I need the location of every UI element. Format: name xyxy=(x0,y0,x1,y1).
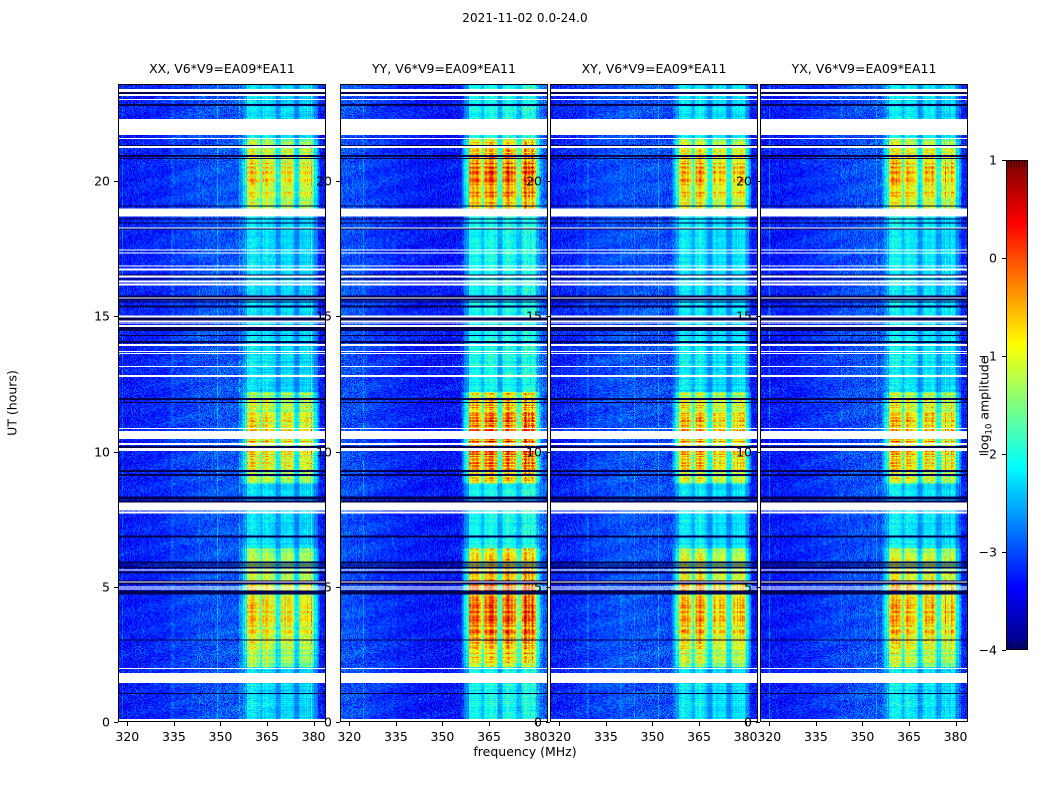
y-tick-label: 20 xyxy=(526,174,542,189)
y-tick-label: 0 xyxy=(102,715,110,730)
spectrogram-figure: 2021-11-02 0.0-24.0 UT (hours) frequency… xyxy=(0,0,1050,800)
x-tick-mark xyxy=(769,722,770,726)
colorbar-tick-mark xyxy=(1002,454,1006,455)
panel-title-yy: YY, V6*V9=EA09*EA11 xyxy=(372,61,516,76)
x-tick-mark xyxy=(220,722,221,726)
x-tick-label: 320 xyxy=(115,729,139,744)
y-tick-label: 0 xyxy=(534,715,542,730)
x-tick-label: 350 xyxy=(431,729,455,744)
panel-xx: XX, V6*V9=EA09*EA11320335350365380051015… xyxy=(118,84,326,722)
x-tick-label: 350 xyxy=(851,729,875,744)
colorbar-label-suffix: amplitude xyxy=(977,356,992,423)
colorbar-tick-label: 1 xyxy=(989,153,997,168)
y-tick-mark xyxy=(336,722,340,723)
colorbar-label-subscript: 10 xyxy=(984,424,994,435)
colorbar-tick-label: 0 xyxy=(989,251,997,266)
y-tick-mark xyxy=(546,722,550,723)
spectrogram-image-xx[interactable] xyxy=(118,84,326,722)
panel-title-yx: YX, V6*V9=EA09*EA11 xyxy=(792,61,937,76)
colorbar[interactable] xyxy=(1006,160,1028,650)
y-tick-label: 5 xyxy=(102,579,110,594)
y-tick-mark xyxy=(756,587,760,588)
x-tick-label: 335 xyxy=(594,729,618,744)
x-tick-mark xyxy=(699,722,700,726)
panel-title-xy: XY, V6*V9=EA09*EA11 xyxy=(582,61,727,76)
x-tick-mark xyxy=(349,722,350,726)
y-tick-mark xyxy=(756,316,760,317)
y-tick-label: 10 xyxy=(736,444,752,459)
colorbar-tick-mark xyxy=(1002,258,1006,259)
spectrogram-image-yx[interactable] xyxy=(760,84,968,722)
x-tick-label: 350 xyxy=(641,729,665,744)
x-tick-mark xyxy=(956,722,957,726)
y-tick-mark xyxy=(336,452,340,453)
panel-xy: XY, V6*V9=EA09*EA11320335350365380051015… xyxy=(550,84,758,722)
y-tick-label: 20 xyxy=(736,174,752,189)
x-tick-label: 380 xyxy=(734,729,758,744)
y-tick-mark xyxy=(114,181,118,182)
y-tick-mark xyxy=(756,181,760,182)
x-tick-mark xyxy=(559,722,560,726)
y-tick-mark xyxy=(546,587,550,588)
x-tick-label: 320 xyxy=(547,729,571,744)
x-tick-mark xyxy=(862,722,863,726)
x-tick-label: 380 xyxy=(302,729,326,744)
x-tick-mark xyxy=(909,722,910,726)
colorbar-label: log10 amplitude xyxy=(977,356,992,453)
y-tick-mark xyxy=(114,587,118,588)
y-tick-label: 0 xyxy=(744,715,752,730)
colorbar-tick-mark xyxy=(1002,552,1006,553)
x-tick-label: 335 xyxy=(804,729,828,744)
y-tick-label: 10 xyxy=(526,444,542,459)
y-tick-label: 10 xyxy=(94,444,110,459)
y-tick-label: 10 xyxy=(316,444,332,459)
colorbar-tick-mark xyxy=(1002,160,1006,161)
spectrogram-image-yy[interactable] xyxy=(340,84,548,722)
x-tick-mark xyxy=(127,722,128,726)
x-tick-mark xyxy=(652,722,653,726)
y-tick-mark xyxy=(114,316,118,317)
y-tick-label: 20 xyxy=(94,174,110,189)
spectrogram-canvas xyxy=(551,85,757,721)
x-tick-mark xyxy=(267,722,268,726)
x-tick-mark xyxy=(606,722,607,726)
y-tick-mark xyxy=(114,722,118,723)
y-axis-label: UT (hours) xyxy=(5,370,20,436)
panel-yy: YY, V6*V9=EA09*EA11320335350365380051015… xyxy=(340,84,548,722)
x-axis-label: frequency (MHz) xyxy=(0,744,1050,759)
x-tick-mark xyxy=(442,722,443,726)
x-tick-label: 350 xyxy=(209,729,233,744)
y-tick-mark xyxy=(546,181,550,182)
x-tick-label: 320 xyxy=(757,729,781,744)
y-tick-label: 5 xyxy=(324,579,332,594)
x-tick-label: 380 xyxy=(524,729,548,744)
x-tick-label: 365 xyxy=(687,729,711,744)
x-tick-label: 365 xyxy=(255,729,279,744)
x-tick-label: 320 xyxy=(337,729,361,744)
x-tick-label: 335 xyxy=(162,729,186,744)
y-tick-mark xyxy=(546,316,550,317)
x-tick-label: 380 xyxy=(944,729,968,744)
spectrogram-canvas xyxy=(761,85,967,721)
x-tick-label: 335 xyxy=(384,729,408,744)
y-tick-label: 0 xyxy=(324,715,332,730)
y-tick-label: 15 xyxy=(736,309,752,324)
x-tick-label: 365 xyxy=(897,729,921,744)
y-tick-label: 5 xyxy=(534,579,542,594)
y-tick-mark xyxy=(336,181,340,182)
x-tick-label: 365 xyxy=(477,729,501,744)
colorbar-gradient xyxy=(1007,161,1027,649)
x-tick-mark xyxy=(174,722,175,726)
y-tick-mark xyxy=(756,452,760,453)
colorbar-label-prefix: log xyxy=(977,434,992,453)
y-tick-mark xyxy=(546,452,550,453)
x-tick-mark xyxy=(489,722,490,726)
x-tick-mark xyxy=(816,722,817,726)
figure-suptitle: 2021-11-02 0.0-24.0 xyxy=(0,11,1050,25)
y-tick-label: 15 xyxy=(316,309,332,324)
spectrogram-image-xy[interactable] xyxy=(550,84,758,722)
colorbar-tick-label: −4 xyxy=(979,643,997,658)
y-tick-mark xyxy=(114,452,118,453)
x-tick-mark xyxy=(396,722,397,726)
panel-title-xx: XX, V6*V9=EA09*EA11 xyxy=(149,61,295,76)
y-tick-label: 5 xyxy=(744,579,752,594)
colorbar-tick-label: −3 xyxy=(979,545,997,560)
x-tick-mark xyxy=(314,722,315,726)
spectrogram-canvas xyxy=(341,85,547,721)
spectrogram-canvas xyxy=(119,85,325,721)
y-tick-mark xyxy=(336,316,340,317)
colorbar-tick-mark xyxy=(1002,356,1006,357)
y-tick-label: 15 xyxy=(526,309,542,324)
y-tick-mark xyxy=(756,722,760,723)
colorbar-tick-mark xyxy=(1002,650,1006,651)
panel-yx: YX, V6*V9=EA09*EA11320335350365380051015… xyxy=(760,84,968,722)
y-tick-label: 20 xyxy=(316,174,332,189)
y-tick-label: 15 xyxy=(94,309,110,324)
y-tick-mark xyxy=(336,587,340,588)
